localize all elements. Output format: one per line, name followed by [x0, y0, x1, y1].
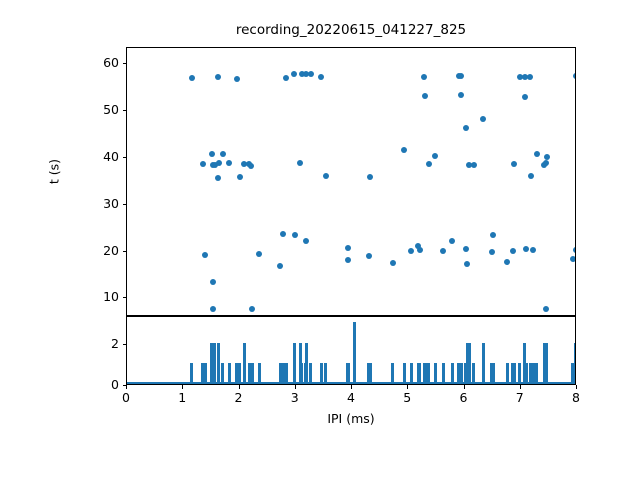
scatter-point: [449, 238, 455, 244]
scatter-point: [390, 260, 396, 266]
scatter-point: [200, 161, 206, 167]
scatter-point: [573, 73, 576, 79]
y-tick-mark: [123, 251, 127, 252]
y-tick-label: 2: [79, 337, 119, 350]
scatter-point: [216, 160, 222, 166]
scatter-point: [543, 306, 549, 312]
histogram-bar: [506, 363, 509, 384]
histogram-bar: [535, 363, 538, 384]
scatter-point: [573, 247, 576, 253]
scatter-point: [511, 161, 517, 167]
x-axis-label: IPI (ms): [126, 411, 576, 426]
scatter-point: [522, 94, 528, 100]
scatter-point: [570, 256, 576, 262]
histogram-bar: [305, 343, 308, 384]
histogram-bar: [451, 363, 454, 384]
histogram-bar: [221, 363, 224, 384]
histogram-bar: [442, 363, 445, 384]
scatter-point: [215, 175, 221, 181]
scatter-point: [366, 253, 372, 259]
y-tick-label: 40: [79, 150, 119, 163]
scatter-point: [277, 263, 283, 269]
y-tick-label: 20: [79, 244, 119, 257]
scatter-point: [202, 252, 208, 258]
x-tick-mark: [295, 385, 296, 389]
histogram-bar: [320, 363, 323, 384]
histogram-bar: [482, 343, 485, 384]
scatter-point: [527, 74, 533, 80]
scatter-point: [426, 161, 432, 167]
histogram-bar: [309, 363, 312, 384]
histogram-bar: [238, 363, 241, 384]
histogram-bar: [190, 363, 193, 384]
scatter-point: [249, 306, 255, 312]
scatter-point: [489, 249, 495, 255]
x-tick-mark: [126, 385, 127, 389]
x-tick-label: 1: [167, 391, 197, 404]
scatter-point: [292, 232, 298, 238]
histogram-bar: [391, 363, 394, 384]
scatter-point: [471, 162, 477, 168]
scatter-point: [210, 279, 216, 285]
x-tick-label: 3: [280, 391, 310, 404]
scatter-point: [318, 74, 324, 80]
histogram-bar: [513, 363, 516, 384]
scatter-point: [283, 75, 289, 81]
scatter-point: [220, 151, 226, 157]
y-tick-label: 60: [79, 56, 119, 69]
scatter-point: [209, 151, 215, 157]
x-tick-mark: [182, 385, 183, 389]
scatter-point: [256, 251, 262, 257]
histogram-bar: [460, 363, 463, 384]
histogram-bar: [369, 363, 372, 384]
scatter-point: [464, 261, 470, 267]
y-tick-mark: [123, 344, 127, 345]
x-tick-label: 2: [224, 391, 254, 404]
x-tick-mark: [239, 385, 240, 389]
scatter-point: [367, 174, 373, 180]
histogram-bar: [403, 363, 406, 384]
scatter-point: [401, 147, 407, 153]
histogram-bar: [353, 322, 356, 384]
scatter-point: [421, 74, 427, 80]
scatter-point: [189, 75, 195, 81]
y-tick-mark: [123, 63, 127, 64]
x-tick-mark: [464, 385, 465, 389]
histogram-bar: [204, 363, 207, 384]
scatter-point: [458, 92, 464, 98]
histogram-bar: [228, 363, 231, 384]
page-title: recording_20220615_041227_825: [126, 22, 576, 38]
histogram-bar: [258, 363, 261, 384]
x-tick-mark: [576, 385, 577, 389]
scatter-point: [528, 173, 534, 179]
x-tick-label: 8: [561, 391, 591, 404]
y-tick-mark: [123, 204, 127, 205]
y-tick-label: 0: [79, 378, 119, 391]
x-tick-label: 4: [336, 391, 366, 404]
scatter-point: [210, 306, 216, 312]
scatter-point: [480, 116, 486, 122]
scatter-point: [432, 153, 438, 159]
x-tick-label: 7: [505, 391, 535, 404]
scatter-point: [510, 248, 516, 254]
histogram-bar: [324, 363, 327, 384]
scatter-plot-axes: [126, 47, 576, 316]
x-tick-label: 0: [111, 391, 141, 404]
histogram-bar: [293, 343, 296, 384]
scatter-point: [308, 71, 314, 77]
x-tick-mark: [351, 385, 352, 389]
histogram-bar: [347, 363, 350, 384]
histogram-bar: [427, 363, 430, 384]
y-axis-label: t (s): [47, 112, 62, 232]
scatter-point: [303, 238, 309, 244]
histogram-bar: [525, 363, 528, 384]
scatter-point: [345, 257, 351, 263]
y-tick-mark: [123, 110, 127, 111]
scatter-point: [234, 76, 240, 82]
histogram-bar: [251, 363, 254, 384]
histogram-bar: [518, 363, 521, 384]
y-tick-label: 50: [79, 103, 119, 116]
histogram-bar: [217, 343, 220, 384]
scatter-point: [248, 163, 254, 169]
scatter-point: [530, 247, 536, 253]
scatter-point: [534, 151, 540, 157]
histogram-bar: [243, 343, 246, 384]
y-tick-mark: [123, 157, 127, 158]
histogram-baseline: [127, 382, 576, 384]
scatter-point: [297, 160, 303, 166]
scatter-point: [291, 71, 297, 77]
y-tick-label: 10: [79, 290, 119, 303]
scatter-point: [544, 154, 550, 160]
scatter-point: [345, 245, 351, 251]
histogram-bar: [410, 363, 413, 384]
histogram-bar: [434, 363, 437, 384]
scatter-point: [440, 248, 446, 254]
scatter-point: [543, 160, 549, 166]
histogram-bar: [574, 343, 576, 384]
histogram-bar: [418, 363, 421, 384]
histogram-bar: [468, 343, 471, 384]
y-tick-mark: [123, 297, 127, 298]
scatter-point: [422, 93, 428, 99]
histogram-bar: [492, 363, 495, 384]
histogram-axes: [126, 316, 576, 385]
histogram-bar: [285, 363, 288, 384]
scatter-point: [463, 125, 469, 131]
scatter-point: [523, 246, 529, 252]
histogram-bar: [545, 343, 548, 384]
histogram-bar: [472, 363, 475, 384]
y-tick-label: 30: [79, 197, 119, 210]
matplotlib-figure: recording_20220615_041227_825 1020304050…: [0, 0, 640, 480]
scatter-point: [458, 73, 464, 79]
scatter-point: [215, 74, 221, 80]
scatter-point: [323, 173, 329, 179]
histogram-bar: [300, 363, 303, 384]
scatter-point: [280, 231, 286, 237]
scatter-point: [490, 232, 496, 238]
scatter-point: [237, 174, 243, 180]
scatter-point: [226, 160, 232, 166]
x-tick-mark: [407, 385, 408, 389]
x-tick-label: 6: [449, 391, 479, 404]
x-tick-mark: [520, 385, 521, 389]
scatter-point: [504, 259, 510, 265]
x-tick-label: 5: [392, 391, 422, 404]
scatter-point: [408, 248, 414, 254]
scatter-point: [463, 246, 469, 252]
